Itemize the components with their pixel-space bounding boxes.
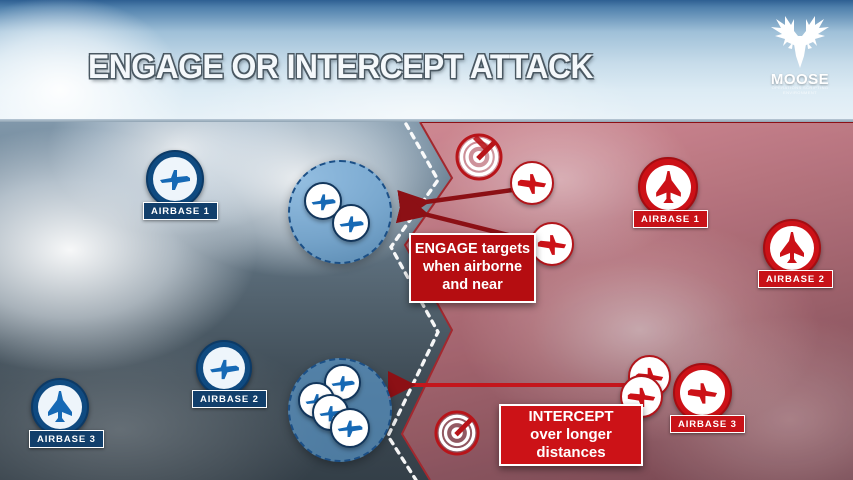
radar-target-lower[interactable] xyxy=(434,410,480,461)
header-band: ENGAGE OR INTERCEPT ATTACK MOOSE MISSION… xyxy=(0,0,853,122)
jet-side-icon xyxy=(338,213,365,234)
red-airbase-1-label: AIRBASE 1 xyxy=(633,210,708,228)
intercept-line-1: INTERCEPT xyxy=(528,408,613,426)
blue-airbase-1-inner xyxy=(153,157,197,201)
red-airbase-3[interactable]: AIRBASE 3 xyxy=(673,363,732,422)
red-airbase-1-inner xyxy=(646,165,691,210)
jet-attack-icon xyxy=(536,232,568,257)
red-airbase-3-circle[interactable] xyxy=(673,363,732,422)
red-attacker-upper-2[interactable] xyxy=(530,222,574,266)
blue-airbase-3[interactable]: AIRBASE 3 xyxy=(31,378,89,436)
blue-unit-lower-4[interactable] xyxy=(330,408,370,448)
blue-airbase-2-label: AIRBASE 2 xyxy=(192,390,267,408)
moose-antlers-icon xyxy=(763,12,837,74)
blue-airbase-3-inner xyxy=(38,385,82,429)
engage-line-1: ENGAGE targets xyxy=(415,241,530,259)
red-attacker-upper-1[interactable] xyxy=(510,161,554,205)
jet-top-icon xyxy=(46,390,74,424)
moose-logo-tagline: MISSION ORIENTED OPERATIONS SCRIPTING EN… xyxy=(763,80,837,95)
jet-attack-icon xyxy=(516,171,548,196)
blue-unit-upper-2[interactable] xyxy=(332,204,370,242)
jet-side-icon xyxy=(330,373,356,393)
jet-side-icon xyxy=(158,166,192,192)
red-airbase-2[interactable]: AIRBASE 2 xyxy=(763,219,821,277)
jet-side-icon xyxy=(336,417,364,439)
blue-airbase-2-circle[interactable] xyxy=(196,340,252,396)
intercept-line-3: distances xyxy=(536,444,605,462)
radar-target-upper[interactable] xyxy=(455,133,503,186)
slide-canvas: ENGAGE OR INTERCEPT ATTACK MOOSE MISSION… xyxy=(0,0,853,480)
blue-airbase-1[interactable]: AIRBASE 1 xyxy=(146,150,204,208)
radar-target-icon xyxy=(455,133,503,181)
blue-group-upper[interactable] xyxy=(288,160,392,264)
red-airbase-2-label: AIRBASE 2 xyxy=(758,270,833,288)
intercept-callout: INTERCEPT over longer distances xyxy=(499,404,643,466)
red-airbase-3-inner xyxy=(680,370,725,415)
jet-top-icon xyxy=(778,231,806,265)
jet-side-icon xyxy=(208,356,241,381)
red-airbase-1-circle[interactable] xyxy=(638,157,698,217)
blue-group-lower[interactable] xyxy=(288,358,392,462)
engage-callout: ENGAGE targets when airborne and near xyxy=(409,233,536,303)
page-title: ENGAGE OR INTERCEPT ATTACK xyxy=(88,48,593,87)
blue-airbase-2-inner xyxy=(203,347,245,389)
engage-line-2: when airborne xyxy=(423,259,522,277)
red-airbase-2-inner xyxy=(770,226,814,270)
intercept-line-2: over longer xyxy=(530,426,612,444)
blue-airbase-3-circle[interactable] xyxy=(31,378,89,436)
blue-airbase-1-label: AIRBASE 1 xyxy=(143,202,218,220)
blue-airbase-2[interactable]: AIRBASE 2 xyxy=(196,340,252,396)
jet-attack-icon xyxy=(686,380,719,406)
blue-airbase-1-circle[interactable] xyxy=(146,150,204,208)
blue-airbase-3-label: AIRBASE 3 xyxy=(29,430,104,448)
jet-top-icon xyxy=(654,170,683,205)
red-airbase-3-label: AIRBASE 3 xyxy=(670,415,745,433)
red-airbase-2-circle[interactable] xyxy=(763,219,821,277)
engage-line-3: and near xyxy=(442,277,502,295)
radar-target-icon xyxy=(434,410,480,456)
red-airbase-1[interactable]: AIRBASE 1 xyxy=(638,157,698,217)
jet-side-icon xyxy=(310,191,337,212)
moose-logo: MOOSE MISSION ORIENTED OPERATIONS SCRIPT… xyxy=(763,12,837,96)
